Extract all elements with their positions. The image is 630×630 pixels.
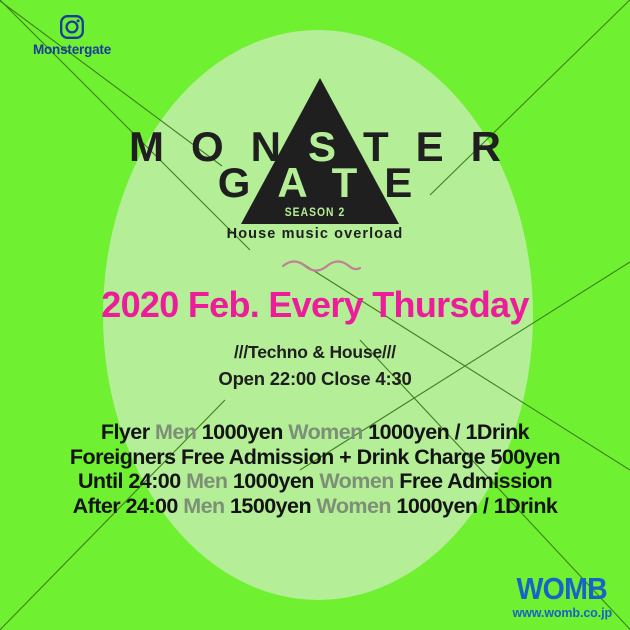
price-value: 1000yen / 1Drink xyxy=(368,420,529,444)
event-times: Open 22:00 Close 4:30 xyxy=(0,368,630,390)
price-value: Flyer xyxy=(101,420,150,444)
price-value: Free Admission xyxy=(399,469,552,493)
price-list: Flyer Men 1000yen Women 1000yen / 1Drink… xyxy=(0,420,630,518)
price-label: Women xyxy=(319,469,394,493)
price-value: 1000yen xyxy=(233,469,314,493)
price-value: 1000yen / 1Drink xyxy=(396,494,557,518)
instagram-badge[interactable]: Monstergate xyxy=(22,14,122,57)
venue-url[interactable]: www.womb.co.jp xyxy=(512,606,612,620)
price-value: 1500yen xyxy=(230,494,311,518)
venue-logo[interactable]: WOMB www.womb.co.jp xyxy=(512,573,612,620)
poster-canvas: Monstergate MONSTER GATE SEASON 2 House … xyxy=(0,0,630,630)
event-date: 2020 Feb. Every Thursday xyxy=(0,284,630,326)
venue-name: WOMB xyxy=(516,573,608,604)
instagram-handle: Monstergate xyxy=(22,42,122,57)
price-label: Men xyxy=(183,494,224,518)
price-row-flyer: Flyer Men 1000yen Women 1000yen / 1Drink xyxy=(0,420,630,445)
price-row-until-24: Until 24:00 Men 1000yen Women Free Admis… xyxy=(0,469,630,494)
logo-tagline: House music overload xyxy=(0,226,630,242)
logo-letter: T xyxy=(332,159,385,206)
event-genre: ///Techno & House/// xyxy=(0,342,630,363)
price-label: Men xyxy=(155,420,196,444)
logo-season-label: SEASON 2 xyxy=(44,205,586,219)
price-label: Men xyxy=(186,469,227,493)
price-value: 1000yen xyxy=(202,420,283,444)
instagram-icon[interactable] xyxy=(59,14,85,40)
logo-letter: A xyxy=(277,159,331,206)
logo-word-gate: GATE xyxy=(0,162,630,204)
price-row-after-24: After 24:00 Men 1500yen Women 1000yen / … xyxy=(0,494,630,519)
price-label: Women xyxy=(316,494,391,518)
price-value: Free Admission + Drink Charge 500yen xyxy=(181,445,560,469)
price-label: Women xyxy=(288,420,363,444)
logo-letter: G xyxy=(218,159,278,206)
price-value: After 24:00 xyxy=(73,494,178,518)
price-value: Until 24:00 xyxy=(78,469,181,493)
price-row-foreigners: Foreigners Free Admission + Drink Charge… xyxy=(0,445,630,470)
logo-letter: E xyxy=(384,159,439,206)
price-value: Foreigners xyxy=(70,445,176,469)
